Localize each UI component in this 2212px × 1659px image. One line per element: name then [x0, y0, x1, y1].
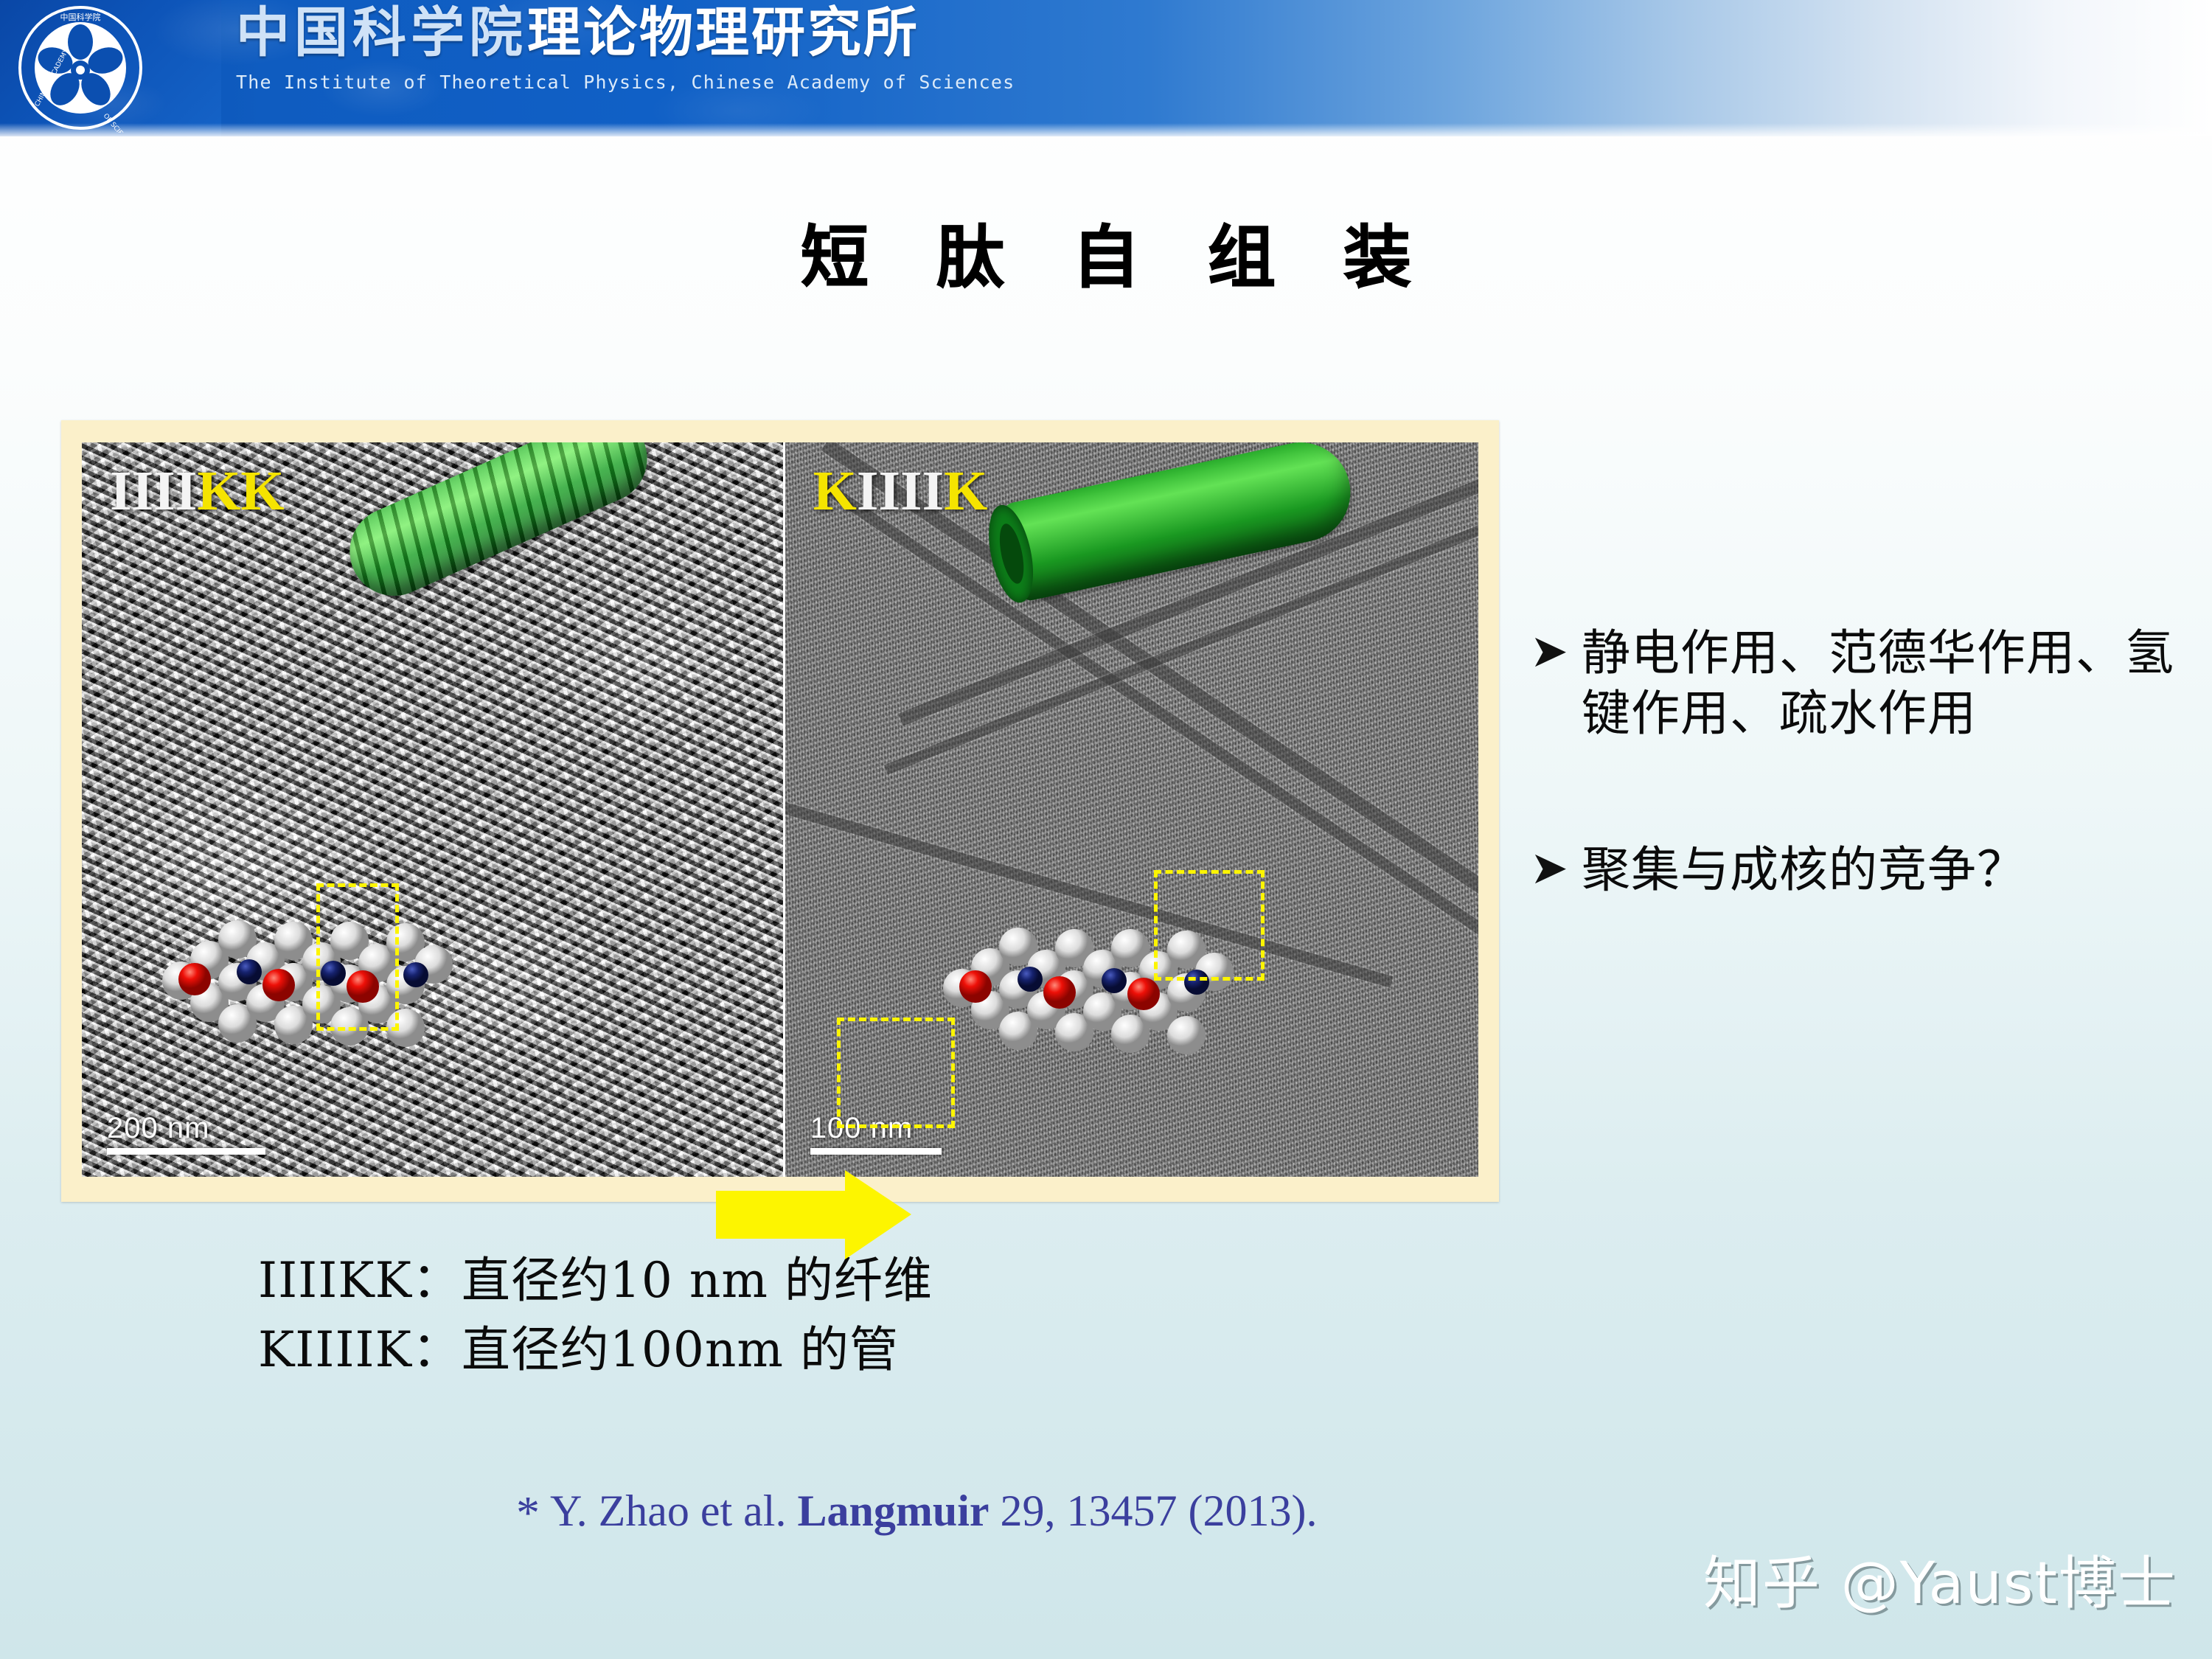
reference-citation: *Y. Zhao et al. Langmuir 29, 13457 (2013… [516, 1486, 1318, 1540]
banner-bottom-edge [0, 123, 2212, 136]
page-title: 短 肽 自 组 装 [0, 203, 2212, 301]
banner-title-wrap: 中国科学院理论物理研究所 The Institute of Theoretica… [236, 6, 1165, 135]
highlight-box-right-lower [837, 1018, 955, 1128]
reference-journal: Langmuir [797, 1486, 989, 1535]
caption-line-2: KIIIIK：直径约100nm 的管 [258, 1315, 1438, 1385]
tem-panel-right: KIIIIK [783, 442, 1478, 1177]
bullet-arrow-icon-2: ➤ [1530, 840, 1582, 896]
reference-authors: Y. Zhao et al. [550, 1486, 797, 1535]
bullet-arrow-icon-1: ➤ [1530, 623, 1582, 679]
tem-panel-left: IIIIKK [82, 442, 783, 1177]
panel-label-right-white: IIII [857, 460, 944, 522]
banner-academy-text: 中国科学院 [236, 1, 527, 64]
cas-emblem-logo: 中国科学院 CHINESE ACADEMY OF SCIENCES [16, 4, 145, 133]
bullet-text-1: 静电作用、范德华作用、氢键作用、疏水作用 [1582, 623, 2186, 744]
panel-label-right-yellow-start: K [813, 460, 857, 522]
header-banner: 中国科学院 CHINESE ACADEMY OF SCIENCES 中国科学院理… [0, 0, 2212, 136]
reference-details: 29, 13457 (2013). [990, 1486, 1318, 1535]
scale-bar-right-line [810, 1148, 942, 1155]
peptide-space-filling-model-left [152, 892, 462, 1135]
panel-label-right-yellow-end: K [944, 460, 987, 522]
banner-english-subtitle: The Institute of Theoretical Physics, Ch… [236, 72, 1165, 93]
panel-label-left-yellow: KK [197, 460, 284, 522]
tem-figure-frame: IIIIKK [61, 420, 1499, 1202]
panel-label-left: IIIIKK [110, 463, 285, 519]
bullet-item-2: ➤ 聚集与成核的竞争？ [1530, 840, 2186, 900]
svg-text:中国科学院: 中国科学院 [60, 12, 101, 22]
reference-asterisk: * [516, 1486, 540, 1539]
yellow-right-arrow-icon [716, 1169, 911, 1261]
banner-chinese-title: 中国科学院理论物理研究所 [236, 6, 1165, 60]
highlight-box-left [316, 883, 399, 1031]
panel-label-right: KIIIIK [813, 463, 988, 519]
panel-label-left-white: IIII [110, 460, 197, 522]
tem-figure-panels: IIIIKK [82, 442, 1478, 1177]
zhihu-watermark: 知乎 @Yaust博士 [1703, 1537, 2177, 1620]
highlight-box-right-upper [1154, 870, 1265, 981]
scale-bar-left-line [107, 1148, 265, 1155]
banner-institute-text: 理论物理研究所 [527, 1, 919, 64]
figure-caption: IIIIKK：直径约10 nm 的纤维 KIIIIK：直径约100nm 的管 [258, 1246, 1438, 1384]
bullet-item-1: ➤ 静电作用、范德华作用、氢键作用、疏水作用 [1530, 623, 2186, 744]
bullet-text-2: 聚集与成核的竞争？ [1582, 840, 2026, 900]
bullet-list: ➤ 静电作用、范德华作用、氢键作用、疏水作用 ➤ 聚集与成核的竞争？ [1530, 623, 2186, 900]
